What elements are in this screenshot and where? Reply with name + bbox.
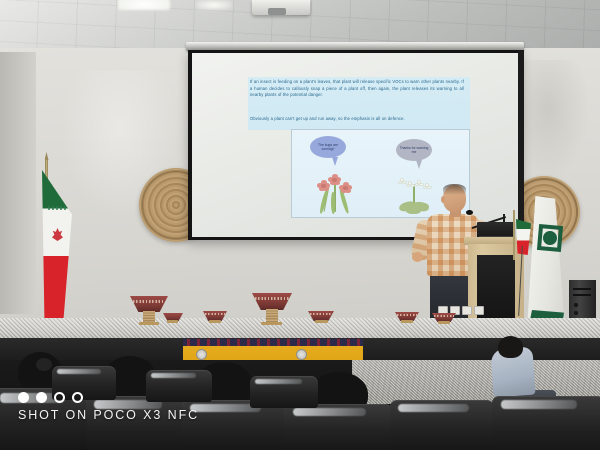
pc-reset-button[interactable]: [574, 311, 578, 315]
watermark-dot-filled-icon: [18, 392, 29, 403]
audience-member-head: [498, 336, 523, 358]
seat-highlight: [151, 373, 196, 378]
projected-slide: If an insect is feeding on a plant's lea…: [248, 77, 470, 218]
pink-flower: [317, 180, 330, 192]
seat-highlight: [255, 379, 301, 384]
theater-seat: [390, 400, 494, 450]
pc-tower: [569, 280, 596, 323]
presentation-hall-photo: If an insect is feeding on a plant's lea…: [0, 0, 600, 450]
speech-bubble-right: Thanks for warning me: [396, 139, 432, 161]
stage-banner-trim: [183, 339, 363, 346]
white-flower: [406, 181, 415, 189]
projector-lens-icon: [268, 8, 286, 15]
watermark-text: SHOT ON POCO X3 NFC: [18, 408, 199, 422]
wall-outlet: [474, 306, 484, 315]
watermark-dots: [18, 392, 199, 403]
ceiling-light: [118, 0, 170, 10]
watermark-dot-hollow-icon: [72, 392, 83, 403]
pc-power-button[interactable]: [574, 303, 578, 307]
presenter-hair: [443, 184, 466, 195]
theater-seat: [492, 396, 600, 450]
watermark-dot-hollow-icon: [54, 392, 65, 403]
banner-medallion-icon: [296, 349, 307, 360]
slide-body-text: If an insect is feeding on a plant's lea…: [250, 79, 464, 99]
presenter-ear: [441, 196, 445, 203]
microphone-icon: [466, 210, 473, 215]
plant-leaf: [331, 192, 335, 214]
banner-medallion-icon: [196, 349, 207, 360]
side-wall-left: [0, 52, 36, 314]
seat-highlight: [398, 404, 469, 412]
speech-bubble-tail-left: [332, 157, 338, 166]
wall-shading-right: [520, 60, 590, 180]
seat-highlight: [293, 408, 366, 416]
seat-highlight: [57, 369, 101, 374]
screen-edge: [518, 50, 524, 242]
pc-drive-slot: [573, 288, 591, 290]
plant-leaf: [406, 207, 421, 214]
seat-highlight: [501, 400, 577, 409]
camera-watermark: SHOT ON POCO X3 NFC: [18, 392, 199, 422]
ceiling-light-secondary: [196, 0, 232, 10]
theater-seat-back-row: [250, 376, 318, 408]
pink-flower: [339, 182, 352, 194]
watermark-dot-filled-icon: [36, 392, 47, 403]
speech-bubble-tail-right: [416, 160, 422, 169]
white-flower: [423, 183, 432, 191]
presenter-left-hand: [412, 252, 423, 262]
speech-bubble-left: The bugs are coming!!: [310, 136, 346, 158]
slide-second-paragraph: Obviously a plant can't get up and run a…: [250, 116, 464, 123]
flag-script-band: [48, 206, 68, 210]
flagpole-small: [513, 210, 515, 260]
wall-outlet: [462, 306, 472, 315]
theater-seat: [284, 404, 392, 450]
pc-drive-slot: [573, 294, 591, 296]
